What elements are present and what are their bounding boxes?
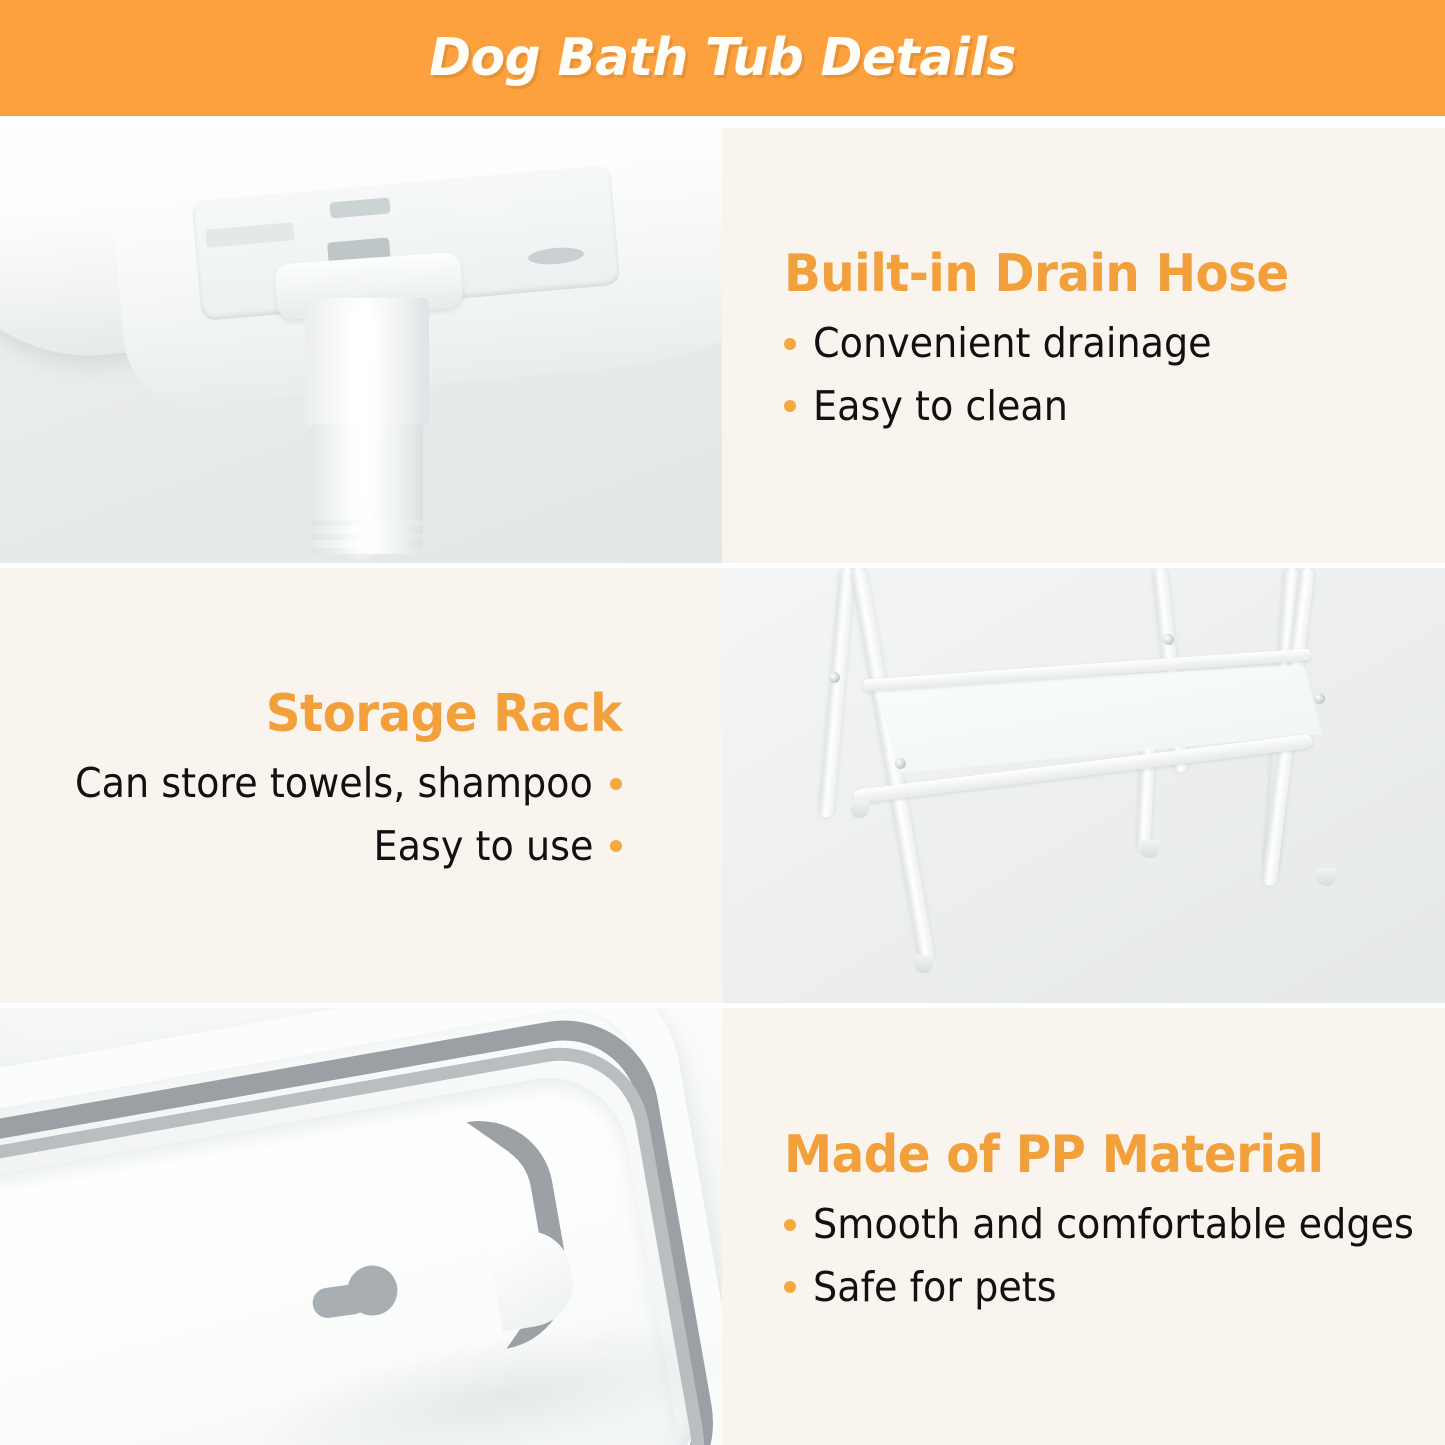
bullet-dot-icon — [784, 400, 796, 412]
page-title: Dog Bath Tub Details — [429, 28, 1016, 88]
infographic-page: Dog Bath Tub Details — [0, 0, 1445, 1445]
text-cell-drain-hose: Built-in Drain Hose Convenient drainage … — [722, 128, 1445, 563]
rack-foot-2 — [914, 955, 933, 973]
feature-bullets-storage-rack: Can store towels, shampoo Easy to use — [20, 759, 622, 884]
feature-text-pp-material: Made of PP Material Smooth and comfortab… — [722, 1008, 1445, 1445]
photo-cell-storage-rack — [722, 568, 1445, 1003]
bullet-item: Safe for pets — [784, 1263, 1425, 1311]
drain-plug-icon — [309, 1262, 402, 1329]
pp-material-photo — [0, 1008, 722, 1445]
bullet-dot-icon — [784, 1219, 796, 1231]
photo-cell-drain-hose — [0, 128, 722, 563]
rivet-3 — [1163, 634, 1174, 645]
feature-grid: Built-in Drain Hose Convenient drainage … — [0, 128, 1445, 1445]
feature-row-storage-rack: Storage Rack Can store towels, shampoo E… — [0, 568, 1445, 1003]
page-header-banner: Dog Bath Tub Details — [0, 0, 1445, 116]
bullet-item: Can store towels, shampoo — [20, 759, 622, 807]
feature-row-drain-hose: Built-in Drain Hose Convenient drainage … — [0, 128, 1445, 563]
bullet-dot-icon — [784, 338, 796, 350]
feature-text-storage-rack: Storage Rack Can store towels, shampoo E… — [0, 568, 722, 1003]
feature-bullets-drain-hose: Convenient drainage Easy to clean — [784, 319, 1425, 444]
feature-heading-pp-material: Made of PP Material — [784, 1128, 1324, 1183]
storage-rack-photo — [722, 568, 1445, 1003]
rack-foot-1 — [850, 800, 869, 818]
bullet-label: Can store towels, shampoo — [75, 759, 593, 807]
feature-heading-drain-hose: Built-in Drain Hose — [784, 247, 1289, 302]
drain-spout-highlight — [346, 306, 376, 561]
rack-leg-1 — [818, 568, 855, 818]
bullet-item: Easy to use — [20, 822, 622, 870]
text-cell-storage-rack: Storage Rack Can store towels, shampoo E… — [0, 568, 722, 1003]
feature-text-drain-hose: Built-in Drain Hose Convenient drainage … — [722, 128, 1445, 563]
drain-slot-3 — [455, 192, 509, 218]
rack-foot-3 — [1140, 840, 1159, 858]
rivet-4 — [1314, 693, 1325, 704]
drain-hose-photo — [0, 128, 722, 563]
bullet-item: Easy to clean — [784, 382, 1425, 430]
bullet-label: Easy to clean — [813, 382, 1068, 430]
feature-row-pp-material: Made of PP Material Smooth and comfortab… — [0, 1008, 1445, 1445]
feature-heading-storage-rack: Storage Rack — [266, 687, 622, 742]
bullet-dot-icon — [610, 840, 622, 852]
bullet-label: Convenient drainage — [813, 319, 1212, 367]
bullet-item: Convenient drainage — [784, 319, 1425, 367]
feature-bullets-pp-material: Smooth and comfortable edges Safe for pe… — [784, 1200, 1425, 1325]
text-cell-pp-material: Made of PP Material Smooth and comfortab… — [722, 1008, 1445, 1445]
bullet-dot-icon — [784, 1281, 796, 1293]
rivet-1 — [829, 672, 840, 683]
photo-cell-pp-material — [0, 1008, 722, 1445]
bullet-label: Smooth and comfortable edges — [813, 1200, 1414, 1248]
bullet-label: Easy to use — [373, 822, 593, 870]
bullet-label: Safe for pets — [813, 1263, 1057, 1311]
bullet-item: Smooth and comfortable edges — [784, 1200, 1425, 1248]
bullet-dot-icon — [610, 778, 622, 790]
rack-foot-4 — [1317, 868, 1336, 886]
rivet-2 — [895, 758, 906, 769]
